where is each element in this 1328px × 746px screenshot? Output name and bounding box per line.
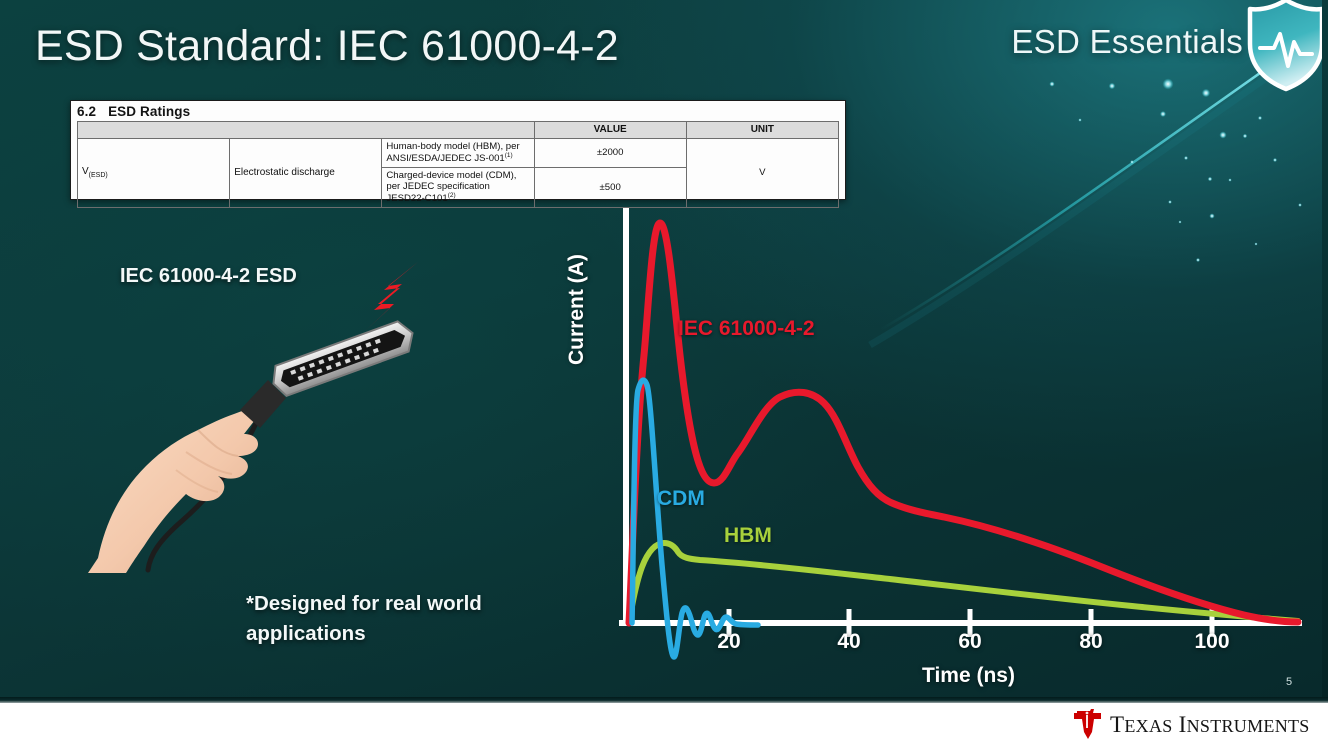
- symbol-subscript: (ESD): [89, 172, 108, 179]
- esd-ratings-table-card: 6.2ESD Ratings VALUE UNIT V(ESD) Electro…: [70, 100, 846, 200]
- table-header-row: VALUE UNIT: [78, 122, 839, 139]
- hbm-value: ±2000: [534, 138, 686, 167]
- series-cdm: [632, 380, 758, 657]
- description-cell-cdm: Charged-device model (CDM), per JEDEC sp…: [382, 167, 534, 207]
- hbm-description: Human-body model (HBM), per ANSI/ESDA/JE…: [386, 141, 519, 165]
- symbol-cell: V(ESD): [78, 138, 230, 207]
- series-label-cdm: CDM: [657, 487, 705, 511]
- symbol-text: V: [82, 166, 89, 177]
- description-cell-hbm: Human-body model (HBM), per ANSI/ESDA/JE…: [382, 138, 534, 167]
- ti-wordmark-part1: EXAS: [1124, 716, 1172, 736]
- illustration-note: *Designed for real world applications: [246, 589, 546, 648]
- value-header: VALUE: [534, 122, 686, 139]
- unit-cell: V: [686, 138, 838, 207]
- chart-xtick-40: 40: [837, 630, 860, 654]
- chart-xtick-100: 100: [1194, 630, 1229, 654]
- page-number: 5: [1286, 676, 1292, 688]
- lightning-bolt-icon: [352, 258, 424, 336]
- table-row: V(ESD) Electrostatic discharge Human-bod…: [78, 138, 839, 167]
- slide-right-edge: [1322, 0, 1328, 703]
- blank-header: [78, 122, 535, 139]
- texas-instruments-wordmark: TEXAS INSTRUMENTS: [1110, 712, 1310, 738]
- esd-ratings-table: VALUE UNIT V(ESD) Electrostatic discharg…: [77, 121, 839, 208]
- cdm-value: ±500: [534, 167, 686, 207]
- parameter-cell: Electrostatic discharge: [230, 138, 382, 207]
- slide-title: ESD Standard: IEC 61000-4-2: [35, 22, 619, 71]
- cdm-footnote: (2): [448, 192, 456, 199]
- chart-xtick-60: 60: [958, 630, 981, 654]
- slide-background: ESD Standard: IEC 61000-4-2 ESD Essentia…: [0, 0, 1328, 703]
- ti-wordmark-part2: NSTRUMENTS: [1187, 716, 1310, 736]
- table-section-heading: 6.2ESD Ratings: [71, 101, 845, 121]
- brand-title: ESD Essentials: [1011, 23, 1243, 61]
- unit-header: UNIT: [686, 122, 838, 139]
- series-label-hbm: HBM: [724, 524, 772, 548]
- chart-xtick-20: 20: [717, 630, 740, 654]
- texas-instruments-logo-icon: [1068, 708, 1108, 740]
- esd-waveform-chart: [572, 205, 1302, 695]
- section-title: ESD Ratings: [108, 104, 190, 119]
- section-number: 6.2: [77, 104, 96, 119]
- shield-pulse-icon: [1244, 0, 1328, 92]
- chart-xtick-80: 80: [1079, 630, 1102, 654]
- slide-canvas: ESD Standard: IEC 61000-4-2 ESD Essentia…: [0, 0, 1328, 746]
- series-label-iec: IEC 61000-4-2: [678, 317, 815, 341]
- hbm-footnote: (1): [505, 152, 513, 159]
- chart-x-axis-label: Time (ns): [922, 664, 1015, 688]
